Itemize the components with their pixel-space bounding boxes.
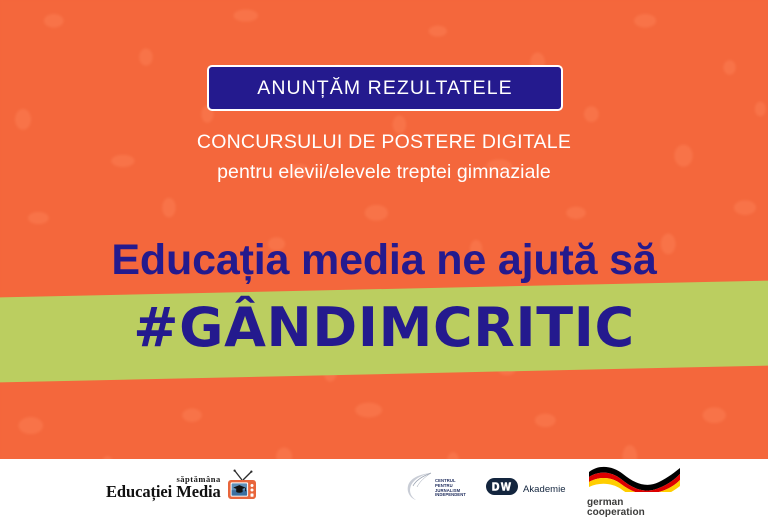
sem-wordmark: săptămâna Educației Media: [106, 475, 221, 501]
cji-wordmark: CENTRUL PENTRU JURNALISM INDEPENDENT: [435, 479, 466, 498]
headline-hashtag: #GÂNDIMCRITIC: [0, 296, 768, 359]
german-cooperation-wordmark: german cooperation DEUTSCHE ZUSAMMENARBE…: [587, 498, 662, 519]
cji-line-4: INDEPENDENT: [435, 493, 466, 498]
german-flag-ribbon-icon: [587, 466, 683, 497]
dw-akademie-word: Akademie: [523, 484, 566, 495]
gc-line-2: cooperation: [587, 508, 662, 518]
dw-monogram-icon: [486, 478, 518, 500]
television-icon: [225, 468, 259, 507]
logo-saptamana-educatiei-media: săptămâna Educației Media: [106, 468, 259, 507]
logo-centrul-pentru-jurnalism-independent: CENTRUL PENTRU JURNALISM INDEPENDENT: [404, 470, 466, 507]
logo-dw-akademie: Akademie: [486, 478, 566, 500]
sem-big-text: Educației Media: [106, 484, 221, 501]
quill-swoosh-icon: [404, 470, 434, 507]
announcement-label: ANUNȚĂM REZULTATELE: [257, 77, 512, 100]
announcement-banner: ANUNȚĂM REZULTATELE: [207, 65, 563, 111]
subtitle-line-1: CONCURSULUI DE POSTERE DIGITALE: [0, 131, 768, 154]
poster-canvas: ANUNȚĂM REZULTATELE CONCURSULUI DE POSTE…: [0, 0, 768, 519]
headline-line-1: Educația media ne ajută să: [0, 236, 768, 285]
logo-german-cooperation: german cooperation DEUTSCHE ZUSAMMENARBE…: [587, 466, 683, 519]
subtitle-line-2: pentru elevii/elevele treptei gimnaziale: [0, 161, 768, 184]
